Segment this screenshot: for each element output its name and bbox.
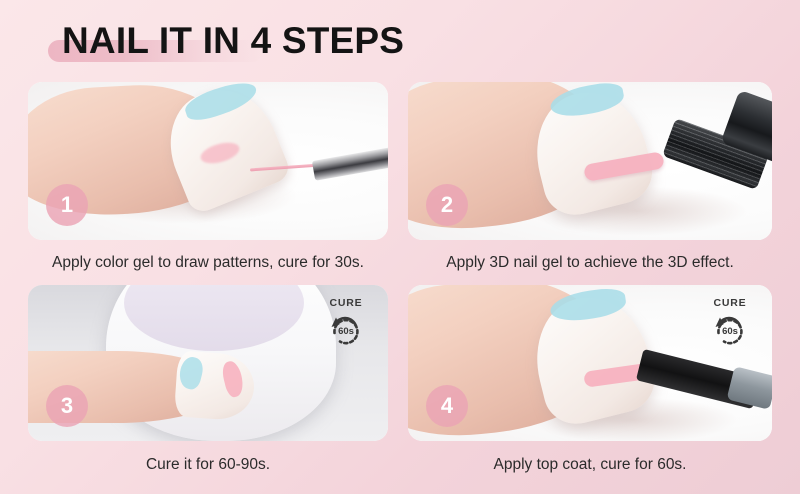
cure-label: CURE: [714, 297, 747, 309]
step-3-photo: CURE 60s 3: [28, 285, 388, 441]
cure-indicator-3: CURE 60s: [318, 297, 374, 355]
step-number-1: 1: [61, 194, 73, 216]
step-4-photo: CURE 60s 4: [408, 285, 772, 441]
cure-time-text: 60s: [722, 326, 738, 337]
step-number-4: 4: [441, 395, 453, 417]
cure-indicator-4: CURE 60s: [702, 297, 758, 355]
step-badge-3: 3: [46, 385, 88, 427]
step-2-photo: 2: [408, 82, 772, 240]
step-caption-3: Cure it for 60-90s.: [28, 455, 388, 475]
step-caption-4: Apply top coat, cure for 60s.: [408, 455, 772, 475]
step-badge-2: 2: [426, 184, 468, 226]
step-card-2[interactable]: 2: [408, 82, 772, 240]
step-caption-1: Apply color gel to draw patterns, cure f…: [28, 253, 388, 273]
cure-time-text: 60s: [338, 326, 354, 337]
cure-timer-icon: 60s: [710, 311, 750, 349]
step-number-2: 2: [441, 194, 453, 216]
step-card-4[interactable]: CURE 60s 4: [408, 285, 772, 441]
step-1-photo: 1: [28, 82, 388, 240]
step-card-3[interactable]: CURE 60s 3: [28, 285, 388, 441]
steps-grid: 1 Apply color gel to draw patterns, cure…: [0, 0, 800, 494]
cure-label: CURE: [330, 297, 363, 309]
step-badge-1: 1: [46, 184, 88, 226]
step-number-3: 3: [61, 395, 73, 417]
cure-timer-icon: 60s: [326, 311, 366, 349]
step-card-1[interactable]: 1: [28, 82, 388, 240]
step-caption-2: Apply 3D nail gel to achieve the 3D effe…: [408, 253, 772, 273]
step-badge-4: 4: [426, 385, 468, 427]
